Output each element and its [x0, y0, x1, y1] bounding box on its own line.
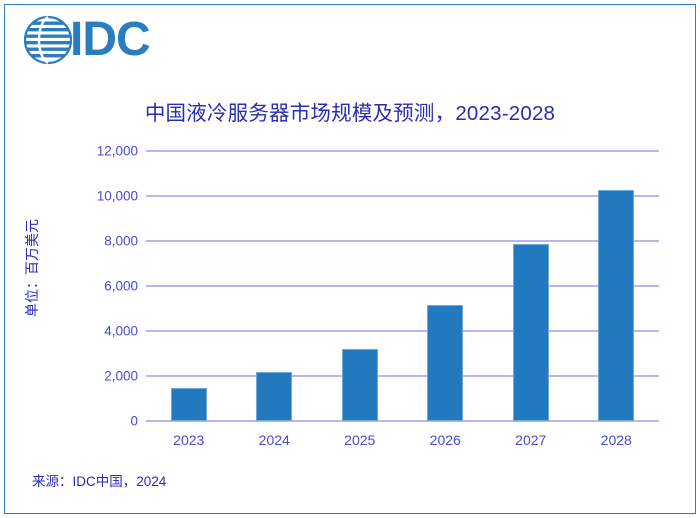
y-tick-label: 0: [48, 414, 138, 429]
bar-2028: [598, 190, 634, 421]
idc-globe-icon: [22, 14, 74, 66]
x-tick-label-2027: 2027: [515, 432, 546, 448]
bar-2023: [171, 388, 207, 421]
idc-logo: IDC: [22, 14, 150, 66]
bar-2027: [513, 244, 549, 421]
x-tick-label-2023: 2023: [173, 432, 204, 448]
y-tick-label: 2,000: [48, 369, 138, 384]
y-tick-label: 8,000: [48, 234, 138, 249]
idc-wordmark: IDC: [70, 14, 150, 66]
x-tick-label-2028: 2028: [601, 432, 632, 448]
bar-2026: [427, 305, 463, 421]
x-tick-label-2026: 2026: [430, 432, 461, 448]
idc-chart-figure: IDC 中国液冷服务器市场规模及预测，2023-2028 单位：百万美元 02,…: [0, 0, 700, 518]
x-tick-label-2024: 2024: [259, 432, 290, 448]
bar-2025: [342, 349, 378, 421]
y-tick-label: 10,000: [48, 189, 138, 204]
x-tick-label-2025: 2025: [344, 432, 375, 448]
y-tick-label: 4,000: [48, 324, 138, 339]
y-tick-label: 12,000: [48, 144, 138, 159]
y-tick-label: 6,000: [48, 279, 138, 294]
bar-series: [146, 151, 659, 421]
y-axis-tick-labels: 02,0004,0006,0008,00010,00012,000: [46, 151, 138, 421]
source-note: 来源：IDC中国，2024: [32, 470, 166, 490]
bar-2024: [256, 372, 292, 422]
chart-title: 中国液冷服务器市场规模及预测，2023-2028: [0, 96, 700, 126]
y-axis-title: 单位：百万美元: [22, 198, 42, 338]
x-axis-tick-labels: 202320242025202620272028: [146, 432, 659, 454]
